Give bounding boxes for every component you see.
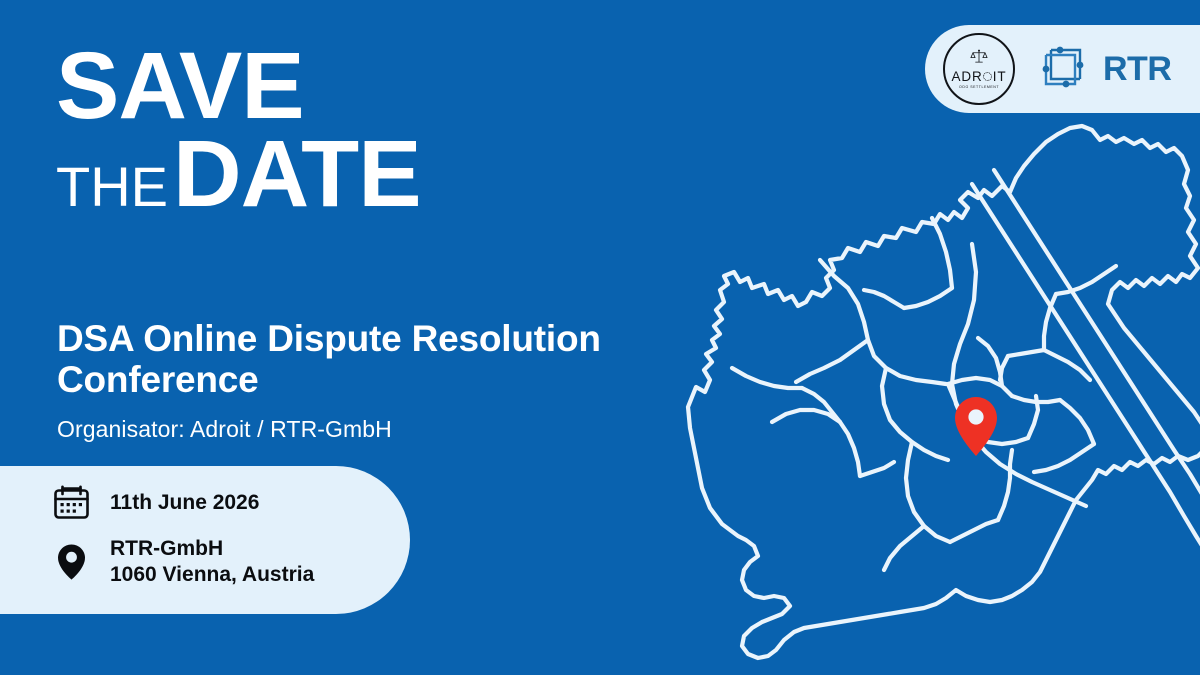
adroit-wordmark: ADR IT	[951, 70, 1006, 84]
event-info-card: 11th June 2026 RTR-GmbH 1060 Vienna, Aus…	[0, 466, 410, 614]
map-pin-icon	[52, 543, 90, 581]
logo-pill: ADR IT ODG SETTLEMENT	[925, 25, 1200, 113]
event-location-value: RTR-GmbH 1060 Vienna, Austria	[110, 536, 314, 587]
headline-second-line: THE DATE	[56, 127, 421, 222]
adroit-logo[interactable]: ADR IT ODG SETTLEMENT	[943, 33, 1015, 105]
headline-save: SAVE	[56, 40, 421, 133]
headline: SAVE THE DATE	[56, 40, 421, 222]
adroit-tagline: ODG SETTLEMENT	[959, 86, 999, 90]
event-location-row: RTR-GmbH 1060 Vienna, Austria	[52, 536, 410, 587]
overlapping-squares-nodes-icon	[1037, 41, 1089, 98]
conference-title-line2: Conference	[57, 359, 677, 400]
event-location-line1: RTR-GmbH	[110, 536, 314, 562]
scales-of-justice-icon	[970, 49, 988, 69]
rtr-logo[interactable]: RTR	[1037, 41, 1171, 98]
event-location-line2: 1060 Vienna, Austria	[110, 562, 314, 588]
adroit-wordmark-after: IT	[993, 70, 1007, 84]
headline-date: DATE	[173, 127, 421, 222]
calendar-icon	[52, 485, 90, 520]
event-date-row: 11th June 2026	[52, 485, 410, 520]
event-date-value: 11th June 2026	[110, 490, 259, 516]
adroit-o-ring-icon	[983, 72, 992, 81]
vienna-map	[672, 112, 1200, 672]
conference-title-line1: DSA Online Dispute Resolution	[57, 318, 677, 359]
rtr-wordmark: RTR	[1103, 52, 1171, 86]
adroit-wordmark-before: ADR	[951, 70, 982, 84]
save-the-date-poster: ADR IT ODG SETTLEMENT	[0, 0, 1200, 675]
conference-organiser: Organisator: Adroit / RTR-GmbH	[57, 416, 677, 443]
conference-title: DSA Online Dispute Resolution Conference	[57, 318, 677, 401]
headline-the: THE	[56, 159, 168, 215]
map-pin-marker	[955, 397, 997, 456]
conference-block: DSA Online Dispute Resolution Conference…	[57, 318, 677, 443]
